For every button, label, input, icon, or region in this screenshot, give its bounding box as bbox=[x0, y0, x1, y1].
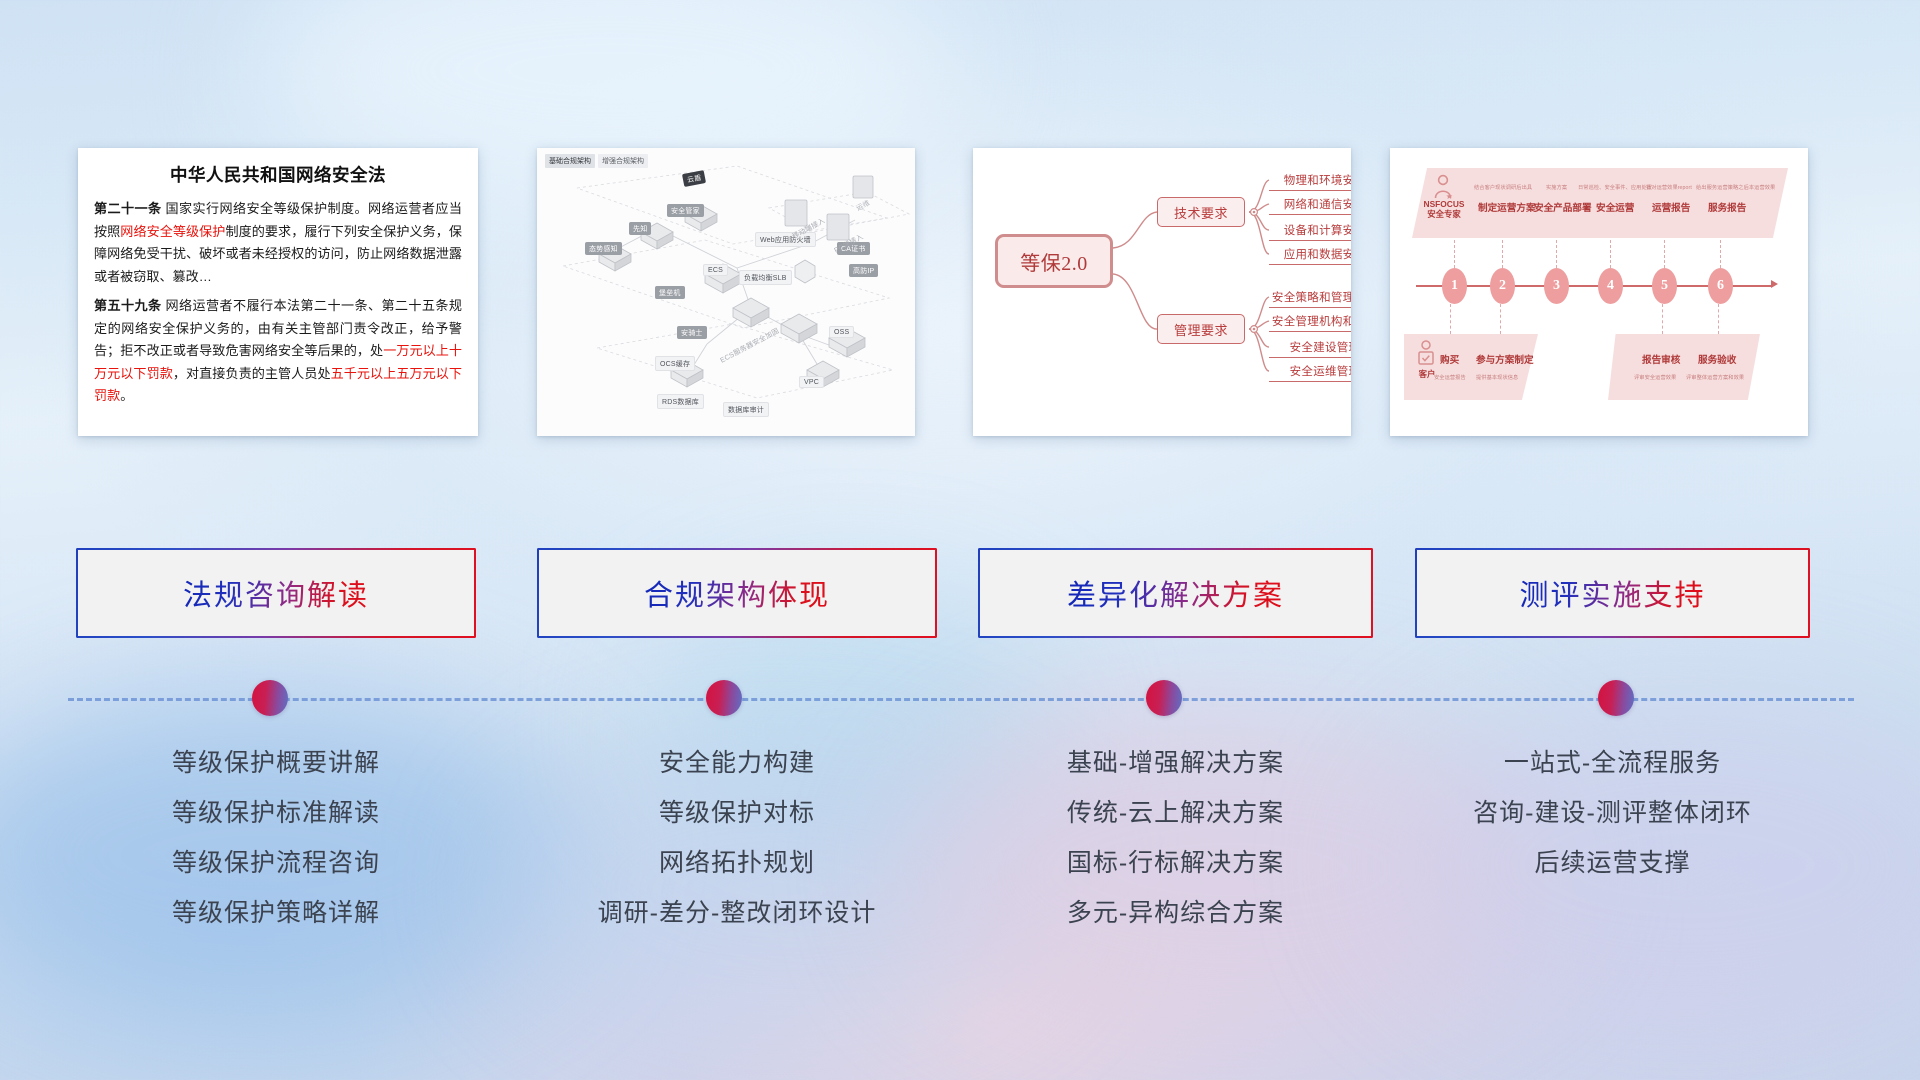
timeline-bottom-sub-3: 评审安全运营效果 bbox=[1634, 374, 1676, 381]
timeline-step-dot-2[interactable]: 2 bbox=[1490, 268, 1515, 304]
law-paragraph-21: 第二十一条 国家实行网络安全等级保护制度。网络运营者应当按照网络安全等级保护制度… bbox=[94, 198, 462, 288]
timeline-connector-b1 bbox=[1450, 304, 1451, 334]
feature-column-2: 安全能力构建 等级保护对标 网络拓扑规划 调研-差分-整改闭环设计 bbox=[537, 738, 937, 938]
timeline-bottom-head-4: 服务验收 bbox=[1698, 352, 1736, 366]
node-label-bastion-host: 堡垒机 bbox=[655, 286, 685, 299]
card-dengbao-mindmap[interactable]: 等保2.0 技术要求 管理要求 物理和环境安全 网络和通信安全 设备和计算安全 … bbox=[973, 148, 1351, 436]
timeline-connector-6 bbox=[1720, 240, 1721, 268]
card-compliance-architecture[interactable]: 基础合规架构 增强合规架构 bbox=[537, 148, 915, 436]
list-item: 咨询-建设-测评整体闭环 bbox=[1415, 788, 1810, 838]
timeline-step-dot-4[interactable]: 4 bbox=[1598, 268, 1623, 304]
timeline-top-head-4: 安全运营 bbox=[1596, 200, 1634, 214]
timeline-bottom-head-2: 参与方案制定 bbox=[1476, 352, 1534, 366]
list-item: 等级保护标准解读 bbox=[76, 788, 476, 838]
timeline-top-sub-2: 结合客户现状调研后出具 bbox=[1474, 184, 1532, 191]
list-item: 一站式-全流程服务 bbox=[1415, 738, 1810, 788]
heading-box-differentiated-solution[interactable]: 差异化解决方案 bbox=[978, 548, 1373, 638]
thumbnail-card-row: 中华人民共和国网络安全法 第二十一条 国家实行网络安全等级保护制度。网络运营者应… bbox=[0, 148, 1920, 440]
expert-role-label: NSFOCUS安全专家 bbox=[1416, 200, 1472, 219]
timeline-top-head-3: 安全产品部署 bbox=[1534, 200, 1592, 214]
timeline-step-dot-6[interactable]: 6 bbox=[1708, 268, 1733, 304]
law-text-59b: ，对直接负责的主管人员处 bbox=[173, 366, 331, 381]
list-item: 网络拓扑规划 bbox=[537, 838, 937, 888]
timeline-bottom-sub-4: 评审整体运营方案和效果 bbox=[1686, 374, 1744, 381]
timeline-top-sub-5: 针对运营效果report bbox=[1646, 184, 1692, 191]
list-item: 调研-差分-整改闭环设计 bbox=[537, 888, 937, 938]
heading-label-4: 测评实施支持 bbox=[1519, 572, 1705, 614]
list-item: 等级保护流程咨询 bbox=[76, 838, 476, 888]
node-label-rds-database: RDS数据库 bbox=[657, 394, 704, 409]
mindmap-leaf-tech-3: 设备和计算安全 bbox=[1269, 219, 1351, 241]
timeline-node-2[interactable] bbox=[706, 680, 742, 716]
slide-page: 中华人民共和国网络安全法 第二十一条 国家实行网络安全等级保护制度。网络运营者应… bbox=[0, 0, 1920, 1080]
mindmap-leaf-mgmt-1: 安全策略和管理制度 bbox=[1269, 286, 1351, 308]
timeline-bottom-sub-2: 提供基本现状信息 bbox=[1476, 374, 1518, 381]
node-label-slb: 负载均衡SLB bbox=[739, 270, 792, 285]
card-cybersecurity-law[interactable]: 中华人民共和国网络安全法 第二十一条 国家实行网络安全等级保护制度。网络运营者应… bbox=[78, 148, 478, 436]
mindmap-leaf-tech-2: 网络和通信安全 bbox=[1269, 193, 1351, 215]
node-label-vpc: VPC bbox=[799, 376, 824, 388]
timeline-connector-b2 bbox=[1500, 304, 1501, 334]
mindmap-branch-management: 管理要求 bbox=[1157, 314, 1245, 344]
timeline-connector-2 bbox=[1502, 240, 1503, 268]
customer-icon bbox=[1416, 340, 1436, 368]
feature-list-row: 等级保护概要讲解 等级保护标准解读 等级保护流程咨询 等级保护策略详解 安全能力… bbox=[0, 738, 1920, 968]
list-item: 等级保护策略详解 bbox=[76, 888, 476, 938]
list-item: 国标-行标解决方案 bbox=[978, 838, 1373, 888]
service-timeline: NSFOCUS安全专家 客户 制定运营方案 结合客户现状调研后出具 安全产品部署… bbox=[1390, 148, 1808, 436]
timeline-top-head-6: 服务报告 bbox=[1708, 200, 1746, 214]
law-body: 中华人民共和国网络安全法 第二十一条 国家实行网络安全等级保护制度。网络运营者应… bbox=[78, 148, 478, 425]
process-timeline bbox=[0, 680, 1920, 720]
law-paragraph-59: 第五十九条 网络运营者不履行本法第二十一条、第二十五条规定的网络安全保护义务的，… bbox=[94, 295, 462, 408]
node-label-xianzhi: 先知 bbox=[629, 222, 651, 235]
feature-column-1: 等级保护概要讲解 等级保护标准解读 等级保护流程咨询 等级保护策略详解 bbox=[76, 738, 476, 938]
timeline-bottom-head-3: 报告审核 bbox=[1642, 352, 1680, 366]
mindmap-root-node: 等保2.0 bbox=[995, 234, 1113, 288]
timeline-dashed-line bbox=[68, 698, 1854, 701]
timeline-top-head-5: 运营报告 bbox=[1652, 200, 1690, 214]
timeline-connector-5 bbox=[1664, 240, 1665, 268]
timeline-step-dot-3[interactable]: 3 bbox=[1544, 268, 1569, 304]
node-label-ecs: ECS bbox=[703, 264, 728, 276]
heading-box-assessment-support[interactable]: 测评实施支持 bbox=[1415, 548, 1810, 638]
law-text-59c: 。 bbox=[120, 388, 133, 403]
timeline-arrow-icon bbox=[1771, 280, 1778, 288]
security-expert-icon bbox=[1432, 174, 1454, 200]
architecture-svg bbox=[537, 148, 915, 436]
list-item: 后续运营支撑 bbox=[1415, 838, 1810, 888]
heading-box-compliance-architecture[interactable]: 合规架构体现 bbox=[537, 548, 937, 638]
timeline-node-4[interactable] bbox=[1598, 680, 1634, 716]
node-label-anti-ddos-ip: 高防IP bbox=[849, 264, 878, 277]
architecture-diagram: 基础合规架构 增强合规架构 bbox=[537, 148, 915, 436]
node-label-ocs-cache: OCS缓存 bbox=[655, 356, 695, 371]
timeline-connector-b3 bbox=[1662, 304, 1663, 334]
heading-label-2: 合规架构体现 bbox=[644, 572, 830, 614]
node-label-db-audit: 数据库审计 bbox=[723, 402, 769, 417]
timeline-step-dot-1[interactable]: 1 bbox=[1442, 268, 1467, 304]
list-item: 等级保护对标 bbox=[537, 788, 937, 838]
timeline-connector-b4 bbox=[1718, 304, 1719, 334]
mindmap: 等保2.0 技术要求 管理要求 物理和环境安全 网络和通信安全 设备和计算安全 … bbox=[973, 148, 1351, 436]
law-title: 中华人民共和国网络安全法 bbox=[94, 162, 462, 187]
timeline-top-head-2: 制定运营方案 bbox=[1478, 200, 1536, 214]
timeline-node-1[interactable] bbox=[252, 680, 288, 716]
mindmap-leaf-mgmt-3: 安全建设管理 bbox=[1269, 336, 1351, 358]
feature-column-4: 一站式-全流程服务 咨询-建设-测评整体闭环 后续运营支撑 bbox=[1415, 738, 1810, 888]
section-heading-row: 法规咨询解读 合规架构体现 差异化解决方案 测评实施支持 bbox=[0, 548, 1920, 644]
card-service-timeline[interactable]: NSFOCUS安全专家 客户 制定运营方案 结合客户现状调研后出具 安全产品部署… bbox=[1390, 148, 1808, 436]
timeline-connector-1 bbox=[1454, 240, 1455, 268]
mindmap-leaf-mgmt-4: 安全运维管理 bbox=[1269, 360, 1351, 382]
timeline-bottom-sub-1: 安全运营报告 bbox=[1434, 374, 1466, 381]
timeline-top-sub-4: 日常巡检、安全事件、应用处置 bbox=[1578, 184, 1652, 191]
law-article-label-21: 第二十一条 bbox=[94, 201, 161, 216]
list-item: 等级保护概要讲解 bbox=[76, 738, 476, 788]
timeline-band-bottom-right bbox=[1608, 334, 1760, 400]
node-label-oss: OSS bbox=[829, 326, 854, 338]
feature-column-3: 基础-增强解决方案 传统-云上解决方案 国标-行标解决方案 多元-异构综合方案 bbox=[978, 738, 1373, 938]
timeline-top-sub-3: 实施方案 bbox=[1546, 184, 1567, 191]
law-article-label-59: 第五十九条 bbox=[94, 298, 161, 313]
timeline-bottom-head-1: 购买 bbox=[1440, 352, 1459, 366]
heading-box-regulation-consulting[interactable]: 法规咨询解读 bbox=[76, 548, 476, 638]
heading-label-1: 法规咨询解读 bbox=[183, 572, 369, 614]
list-item: 传统-云上解决方案 bbox=[978, 788, 1373, 838]
law-highlight-21: 网络安全等级保护 bbox=[120, 224, 225, 239]
node-label-security-steward: 安全管家 bbox=[667, 204, 704, 217]
list-item: 安全能力构建 bbox=[537, 738, 937, 788]
timeline-connector-4 bbox=[1610, 240, 1611, 268]
list-item: 基础-增强解决方案 bbox=[978, 738, 1373, 788]
mindmap-leaf-tech-1: 物理和环境安全 bbox=[1269, 169, 1351, 191]
node-label-anqishi: 安骑士 bbox=[677, 326, 707, 339]
heading-label-3: 差异化解决方案 bbox=[1067, 572, 1284, 614]
mindmap-branch-technical: 技术要求 bbox=[1157, 197, 1245, 227]
mindmap-leaf-mgmt-2: 安全管理机构和人员 bbox=[1269, 310, 1351, 332]
timeline-step-dot-5[interactable]: 5 bbox=[1652, 268, 1677, 304]
timeline-node-3[interactable] bbox=[1146, 680, 1182, 716]
mindmap-leaf-tech-4: 应用和数据安全 bbox=[1269, 243, 1351, 265]
timeline-top-sub-6: 给出服务运营策略之后本运营效果 bbox=[1696, 184, 1775, 191]
node-label-situational-awareness: 态势感知 bbox=[585, 242, 622, 255]
list-item: 多元-异构综合方案 bbox=[978, 888, 1373, 938]
timeline-connector-3 bbox=[1556, 240, 1557, 268]
